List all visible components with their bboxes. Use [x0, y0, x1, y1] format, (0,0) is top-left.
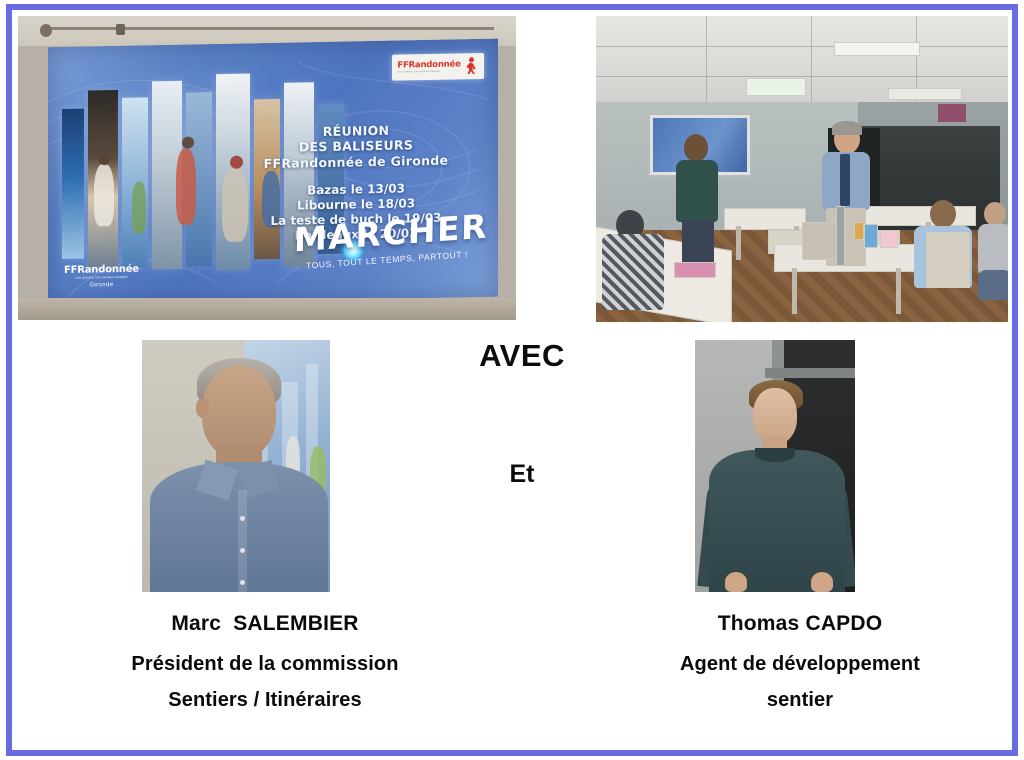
bottle	[836, 206, 845, 266]
sweater-collar	[755, 448, 795, 462]
rail-knob	[116, 24, 125, 35]
chair	[926, 232, 970, 288]
hand	[811, 572, 833, 592]
hiker-figure	[176, 148, 196, 224]
slide-footer-logo: FFRandonnée Des chemins, une aventure pa…	[64, 264, 139, 289]
ffrandonnee-logo-tagline: Des chemins, une aventure partagée	[397, 70, 460, 74]
marc-name: Marc SALEMBIER	[30, 612, 500, 636]
collage-strip	[62, 109, 84, 259]
shirt-placket	[238, 490, 247, 592]
participant	[978, 202, 1008, 298]
ceiling-light	[746, 78, 806, 96]
thomas-caption: Thomas CAPDO Agent de développement sent…	[590, 612, 1010, 712]
table-leg	[896, 268, 901, 314]
shirt-button	[240, 580, 245, 585]
door-header	[765, 368, 855, 378]
shirt-button	[240, 516, 245, 521]
et-label: Et	[412, 460, 632, 489]
participant-standing	[674, 134, 718, 256]
marcher-slogan-block: MARCHER TOUS, TOUT LE TEMPS, PARTOUT !	[294, 212, 480, 267]
brochure	[674, 262, 716, 278]
marc-role-line-2: Sentiers / Itinéraires	[30, 689, 500, 712]
thomas-role-line-1: Agent de développement	[590, 653, 1010, 676]
walker-icon	[465, 57, 479, 75]
marc-caption: Marc SALEMBIER Président de la commissio…	[30, 612, 500, 712]
screen-rail	[42, 27, 494, 30]
ceiling-light	[888, 88, 962, 100]
sweater	[709, 450, 845, 592]
marc-portrait-photo	[142, 340, 330, 592]
participant	[602, 202, 666, 312]
presentation-slide: FFRandonnée Des chemins, une aventure pa…	[0, 0, 1024, 760]
rail-knob	[40, 24, 52, 37]
ceiling-light	[834, 42, 920, 56]
thomas-role-line-2: sentier	[590, 689, 1010, 712]
ceiling-grid-line	[811, 16, 812, 108]
table-leg	[736, 226, 741, 260]
projection-screen-photo: FFRandonnée Des chemins, une aventure pa…	[18, 16, 516, 320]
water-bottle	[864, 224, 878, 248]
ceiling-grid-line	[596, 46, 1008, 47]
ffrandonnee-logo-text: FFRandonnée	[397, 60, 460, 70]
box-item	[880, 230, 898, 248]
hiker-figure	[132, 181, 146, 233]
shirt-button	[240, 548, 245, 553]
slide-canvas: FFRandonnée Des chemins, une aventure pa…	[0, 0, 1024, 760]
chair	[802, 222, 838, 260]
marc-role-line-1: Président de la commission	[30, 653, 500, 676]
ear	[196, 398, 209, 418]
ceiling-grid-line	[596, 76, 1008, 77]
storage-box	[938, 104, 966, 122]
avec-label: AVEC	[412, 338, 632, 374]
meeting-room-photo	[596, 16, 1008, 322]
hiker-figure	[94, 164, 114, 226]
cup	[854, 222, 864, 240]
projected-slide: FFRandonnée Des chemins, une aventure pa…	[48, 39, 498, 306]
room-floor-strip	[18, 298, 516, 320]
hand	[725, 572, 747, 592]
thomas-portrait-photo	[695, 340, 855, 592]
ffrandonnee-logo: FFRandonnée Des chemins, une aventure pa…	[392, 53, 484, 81]
table-leg	[792, 268, 797, 314]
slide-footer-logo-tagline: Des chemins, une aventure partagée	[64, 275, 139, 280]
ceiling-grid-line	[706, 16, 707, 108]
thomas-name: Thomas CAPDO	[590, 612, 1010, 636]
